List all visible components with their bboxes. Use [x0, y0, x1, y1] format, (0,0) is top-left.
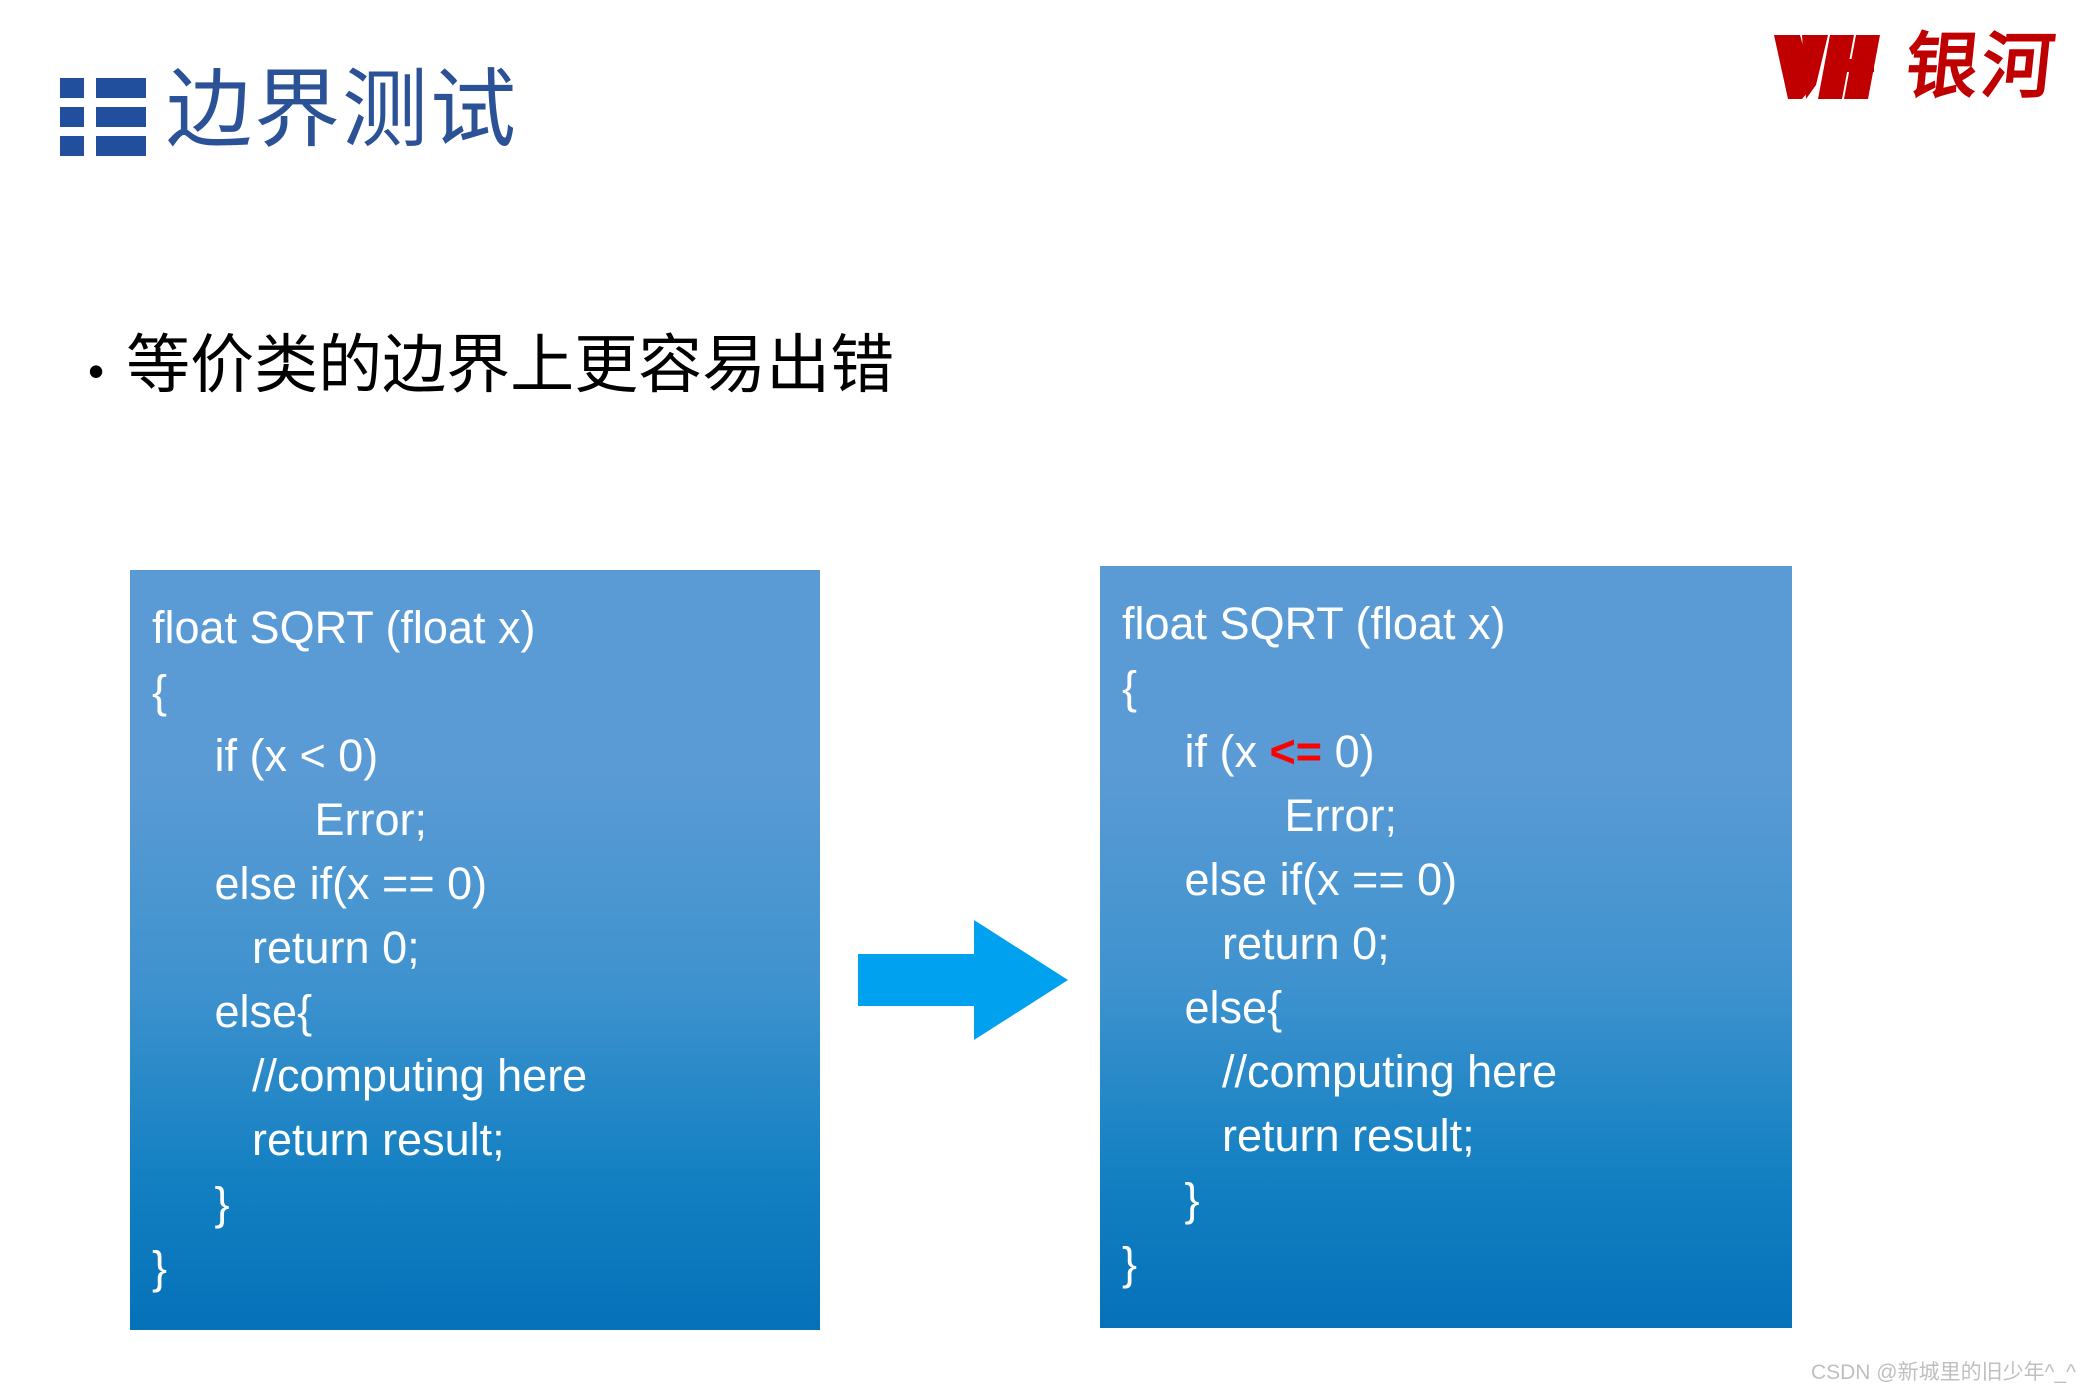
list-icon-row	[60, 136, 146, 156]
brand-name-cn: 银河	[1902, 30, 2062, 102]
code-line: Error;	[152, 788, 820, 852]
code-line: }	[152, 1172, 820, 1236]
bullet-item: • 等价类的边界上更容易出错	[88, 330, 894, 400]
code-line: {	[1122, 656, 1792, 720]
slide-title-row: 边界测试	[60, 40, 518, 180]
code-line: }	[152, 1236, 820, 1300]
list-icon-square	[60, 78, 84, 98]
code-line: else{	[1122, 976, 1792, 1040]
code-line: else if(x == 0)	[152, 852, 820, 916]
code-highlight: <=	[1270, 726, 1323, 777]
list-icon-bar	[96, 78, 146, 98]
list-icon-square	[60, 136, 84, 156]
list-icon-row	[60, 78, 146, 98]
code-line: float SQRT (float x)	[1122, 592, 1792, 656]
code-line: //computing here	[1122, 1040, 1792, 1104]
right-arrow-icon	[858, 920, 1068, 1040]
slide-canvas: 边界测试 银河 • 等价类的边界上更容易出错 float SQRT (float…	[0, 0, 2100, 1398]
list-icon-square	[60, 107, 84, 127]
code-line: return result;	[1122, 1104, 1792, 1168]
watermark: CSDN @新城里的旧少年^_^	[1811, 1356, 2076, 1386]
code-panel-before: float SQRT (float x){ if (x < 0) Error; …	[130, 570, 820, 1330]
list-icon-bar	[96, 107, 146, 127]
bullet-marker: •	[88, 348, 104, 394]
code-panel-after: float SQRT (float x){ if (x <= 0) Error;…	[1100, 566, 1792, 1328]
code-line: else{	[152, 980, 820, 1044]
code-line: }	[1122, 1168, 1792, 1232]
code-line: else if(x == 0)	[1122, 848, 1792, 912]
code-line: float SQRT (float x)	[152, 596, 820, 660]
list-icon	[60, 78, 146, 156]
page-title: 边界测试	[166, 65, 518, 155]
list-icon-bar	[96, 136, 146, 156]
code-line: if (x <= 0)	[1122, 720, 1792, 784]
brand-logo: 银河	[1772, 22, 2058, 110]
code-line: {	[152, 660, 820, 724]
code-line: return 0;	[152, 916, 820, 980]
code-line: return result;	[152, 1108, 820, 1172]
code-line: Error;	[1122, 784, 1792, 848]
bullet-text: 等价类的边界上更容易出错	[126, 330, 894, 400]
code-line: return 0;	[1122, 912, 1792, 976]
vh-logo-icon	[1772, 29, 1890, 103]
code-line: }	[1122, 1232, 1792, 1296]
code-line: //computing here	[152, 1044, 820, 1108]
code-line: if (x < 0)	[152, 724, 820, 788]
list-icon-row	[60, 107, 146, 127]
